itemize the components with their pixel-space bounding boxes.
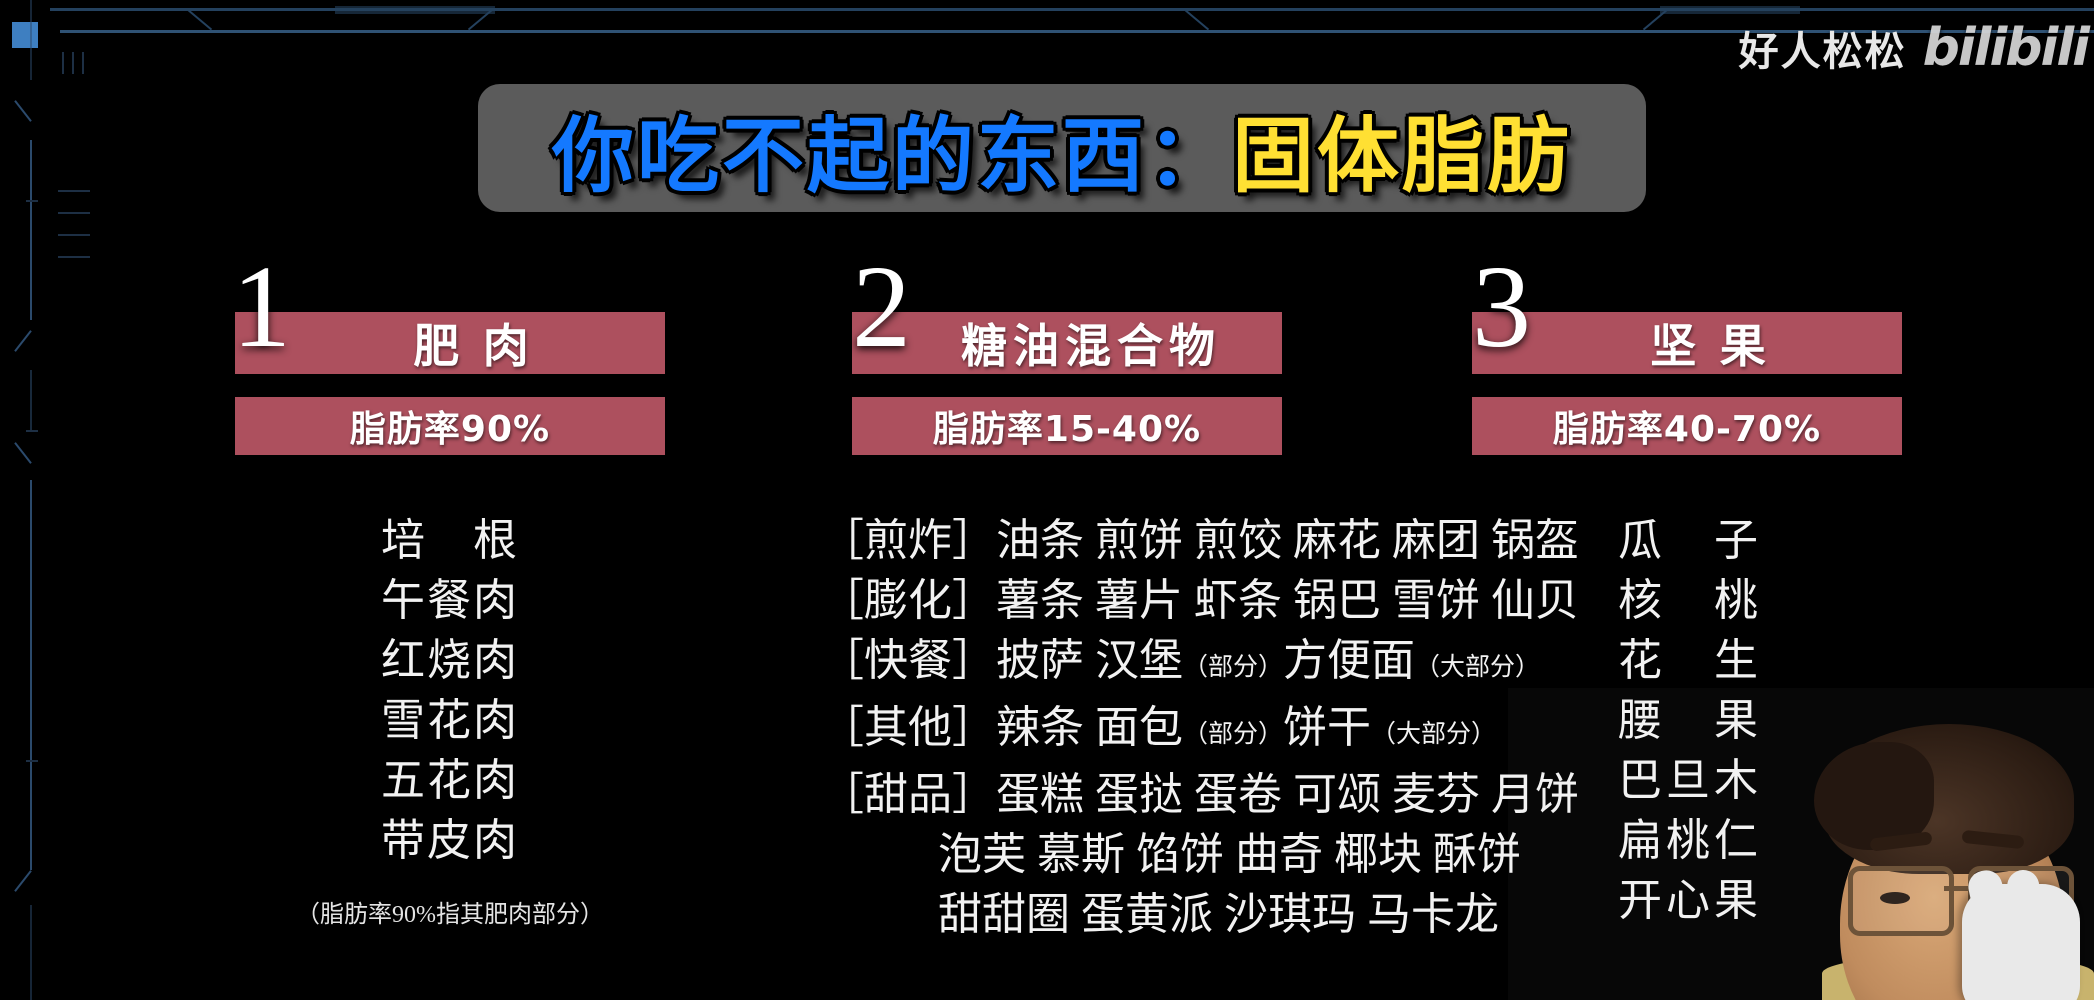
headline-part-highlight: 固体脂肪 xyxy=(1232,89,1572,208)
bilibili-logo: bilibili xyxy=(1923,18,2088,78)
list-item: 红烧肉 xyxy=(200,634,700,688)
group-items-extra: 方便面 xyxy=(1283,636,1415,685)
group-qualifier: （部分） xyxy=(1183,721,1283,748)
top-border-diag-1 xyxy=(188,10,212,31)
group-items-extra: 饼干 xyxy=(1283,703,1371,752)
column-title-bar-3: 坚 果 xyxy=(1472,312,1902,374)
column-fatrate-label-3: 脂肪率40-70% xyxy=(1472,400,1902,452)
glasses-lens-left xyxy=(1848,866,1954,936)
group-tag: ［甜品］ xyxy=(820,770,996,819)
tick-mark-c xyxy=(82,52,84,74)
channel-name-label: 好人松松 xyxy=(1739,19,1907,77)
list-item: ［甜品］蛋糕 蛋挞 蛋卷 可颂 麦芬 月饼 xyxy=(820,768,1440,822)
column-number-2: 2 xyxy=(852,248,911,366)
list-item: 瓜 子 xyxy=(1440,514,1940,568)
list-item: 五花肉 xyxy=(200,754,700,808)
top-border-accent-1 xyxy=(335,6,495,14)
column-title-label-1: 肥 肉 xyxy=(235,310,665,376)
list-item: 带皮肉 xyxy=(200,814,700,868)
category-column-1: 1 肥 肉 脂肪率90% 培 根 午餐肉 红烧肉 雪花肉 五花肉 带皮肉 （脂肪… xyxy=(200,258,700,455)
group-items: 甜甜圈 蛋黄派 沙琪玛 马卡龙 xyxy=(938,890,1499,939)
presenter-finger-2 xyxy=(2007,869,2042,948)
tick-mark-a xyxy=(62,52,64,74)
presenter-webcam-overlay xyxy=(1794,680,2094,1000)
food-list-2: ［煎炸］油条 煎饼 煎饺 麻花 麻团 锅盔 ［膨化］薯条 薯片 虾条 锅巴 雪饼… xyxy=(820,514,1440,948)
group-items: 披萨 汉堡 xyxy=(996,636,1183,685)
tick-mark-b xyxy=(72,52,74,74)
category-column-3: 3 坚 果 脂肪率40-70% 瓜 子 核 桃 花 生 腰 果 巴旦木 扁桃仁 … xyxy=(1440,258,1940,455)
left-scale-mark-4 xyxy=(58,256,90,258)
channel-watermark: 好人松松 bilibili xyxy=(1739,18,2088,78)
headline-text: 你吃不起的东西： 固体脂肪 xyxy=(478,84,1646,212)
left-border-decoration xyxy=(0,0,44,1000)
top-border-diag-3 xyxy=(1185,10,1209,31)
column-title-bar-2: 糖油混合物 xyxy=(852,312,1282,374)
list-item: 泡芙 慕斯 馅饼 曲奇 椰块 酥饼 xyxy=(820,828,1440,882)
group-tag: ［煎炸］ xyxy=(820,516,996,565)
group-tag: ［快餐］ xyxy=(820,636,996,685)
group-tag: ［其他］ xyxy=(820,703,996,752)
list-item: 甜甜圈 蛋黄派 沙琪玛 马卡龙 xyxy=(820,888,1440,942)
group-items: 泡芙 慕斯 馅饼 曲奇 椰块 酥饼 xyxy=(938,830,1521,879)
category-column-2: 2 糖油混合物 脂肪率15-40% ［煎炸］油条 煎饼 煎饺 麻花 麻团 锅盔 … xyxy=(820,258,1440,455)
column-title-label-3: 坚 果 xyxy=(1472,310,1902,376)
column-number-3: 3 xyxy=(1472,248,1531,366)
group-tag: ［膨化］ xyxy=(820,576,996,625)
list-item: ［快餐］披萨 汉堡（部分）方便面（大部分） xyxy=(820,634,1440,695)
top-border-diag-4 xyxy=(1643,10,1667,31)
video-frame: 好人松松 bilibili 你吃不起的东西： 固体脂肪 1 肥 肉 脂肪率90%… xyxy=(0,0,2094,1000)
column-fatrate-label-1: 脂肪率90% xyxy=(235,400,665,452)
left-scale-mark-1 xyxy=(58,190,90,192)
food-list-1: 培 根 午餐肉 红烧肉 雪花肉 五花肉 带皮肉 （脂肪率90%指其肥肉部分） xyxy=(200,514,700,929)
column-fatrate-bar-3: 脂肪率40-70% xyxy=(1472,397,1902,455)
list-item: ［其他］辣条 面包（部分）饼干（大部分） xyxy=(820,701,1440,762)
column-number-1: 1 xyxy=(232,248,291,366)
list-item: 培 根 xyxy=(200,514,700,568)
headline-part-primary: 你吃不起的东西： xyxy=(552,89,1232,208)
column-fatrate-bar-1: 脂肪率90% xyxy=(235,397,665,455)
column-title-bar-1: 肥 肉 xyxy=(235,312,665,374)
group-items: 辣条 面包 xyxy=(996,703,1183,752)
glasses-bridge xyxy=(1944,886,1970,891)
column-fatrate-bar-2: 脂肪率15-40% xyxy=(852,397,1282,455)
list-item: 午餐肉 xyxy=(200,574,700,628)
headline-plate: 你吃不起的东西： 固体脂肪 xyxy=(478,84,1646,212)
list-item: 核 桃 xyxy=(1440,574,1940,628)
left-scale-mark-2 xyxy=(58,212,90,214)
group-qualifier: （部分） xyxy=(1183,654,1283,681)
list-item: 雪花肉 xyxy=(200,694,700,748)
column-footnote-1: （脂肪率90%指其肥肉部分） xyxy=(200,894,700,929)
list-item: ［膨化］薯条 薯片 虾条 锅巴 雪饼 仙贝 xyxy=(820,574,1440,628)
left-scale-mark-3 xyxy=(58,234,90,236)
list-item: ［煎炸］油条 煎饼 煎饺 麻花 麻团 锅盔 xyxy=(820,514,1440,568)
top-border-accent-2 xyxy=(1660,6,1800,14)
column-fatrate-label-2: 脂肪率15-40% xyxy=(852,400,1282,452)
column-title-label-2: 糖油混合物 xyxy=(852,310,1282,376)
